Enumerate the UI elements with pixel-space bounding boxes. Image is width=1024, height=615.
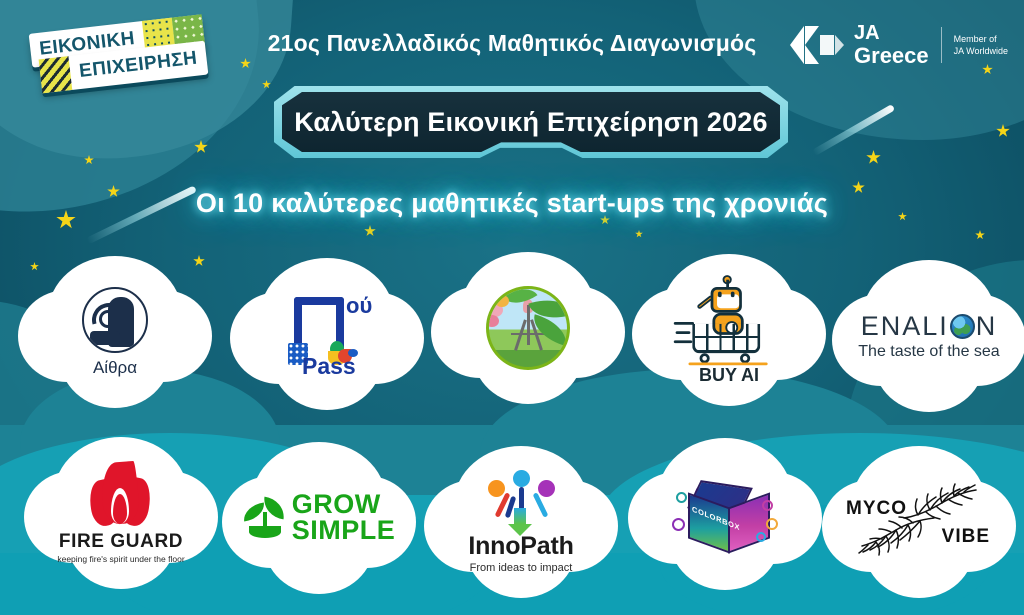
startup-cloud-myco-vibe[interactable]: MYCO VIBE: [822, 446, 1016, 598]
startup-tagline-innopath: From ideas to impact: [470, 562, 573, 574]
enalion-logo-icon: ENALI N: [861, 311, 998, 342]
startup-cloud-colorbox[interactable]: COLORBOX: [628, 438, 822, 590]
mycelium-roots-icon: [902, 482, 978, 524]
startup-logo-grid: Αίθρα ού Pass: [0, 0, 1024, 615]
startup-cloud-aithra[interactable]: Αίθρα: [18, 256, 212, 408]
startup-cloud-pou-pass[interactable]: ού Pass: [230, 258, 424, 410]
startup-name-innopath: InnoPath: [468, 532, 573, 561]
sprout-icon: [243, 496, 287, 540]
pou-pass-logo-icon: ού Pass: [272, 291, 382, 377]
aithra-logo-icon: [82, 287, 148, 353]
enalion-name-part1: ENALI: [861, 311, 949, 342]
startup-cloud-fire-guard[interactable]: FIRE GUARD keeping fire's spirit under t…: [24, 437, 218, 589]
startup-tagline-fire-guard: keeping fire's spirit under the floor: [57, 554, 184, 564]
startup-name-myco-part2: VIBE: [942, 526, 990, 548]
startup-tagline-enalion: The taste of the sea: [858, 343, 999, 361]
innopath-logo-icon: [478, 470, 564, 532]
startup-name-buy-ai: BUY AI: [699, 366, 759, 385]
startup-cloud-grow-simple[interactable]: GROW SIMPLE: [222, 442, 416, 594]
startup-cloud-buy-ai[interactable]: BUY AI: [632, 254, 826, 406]
startup-cloud-nature[interactable]: [431, 252, 625, 404]
nature-circle-logo-icon: [486, 286, 570, 370]
buy-ai-logo-icon: [674, 279, 784, 364]
myco-vibe-logo-icon: MYCO VIBE: [844, 482, 994, 562]
flame-icon: [90, 462, 152, 528]
pou-pass-mark-text: ού: [346, 293, 372, 319]
pou-pass-word: Pass: [302, 353, 356, 380]
startup-name-grow-simple-line2: SIMPLE: [292, 518, 396, 544]
startup-name-fire-guard: FIRE GUARD: [59, 531, 183, 553]
grow-simple-logo-icon: GROW SIMPLE: [243, 492, 396, 543]
colorbox-logo-icon: COLORBOX: [670, 466, 780, 562]
startup-cloud-innopath[interactable]: InnoPath From ideas to impact: [424, 446, 618, 598]
poster-canvas: ΕΙΚΟΝΙΚΗ ΕΠΙΧΕΙΡΗΣΗ 21ος Πανελλαδικός Μα…: [0, 0, 1024, 615]
enalion-name-part2: N: [976, 311, 998, 342]
startup-name-aithra: Αίθρα: [93, 359, 137, 377]
globe-icon: [950, 314, 975, 339]
startup-cloud-enalion[interactable]: ENALI N The taste of the sea: [832, 260, 1024, 412]
